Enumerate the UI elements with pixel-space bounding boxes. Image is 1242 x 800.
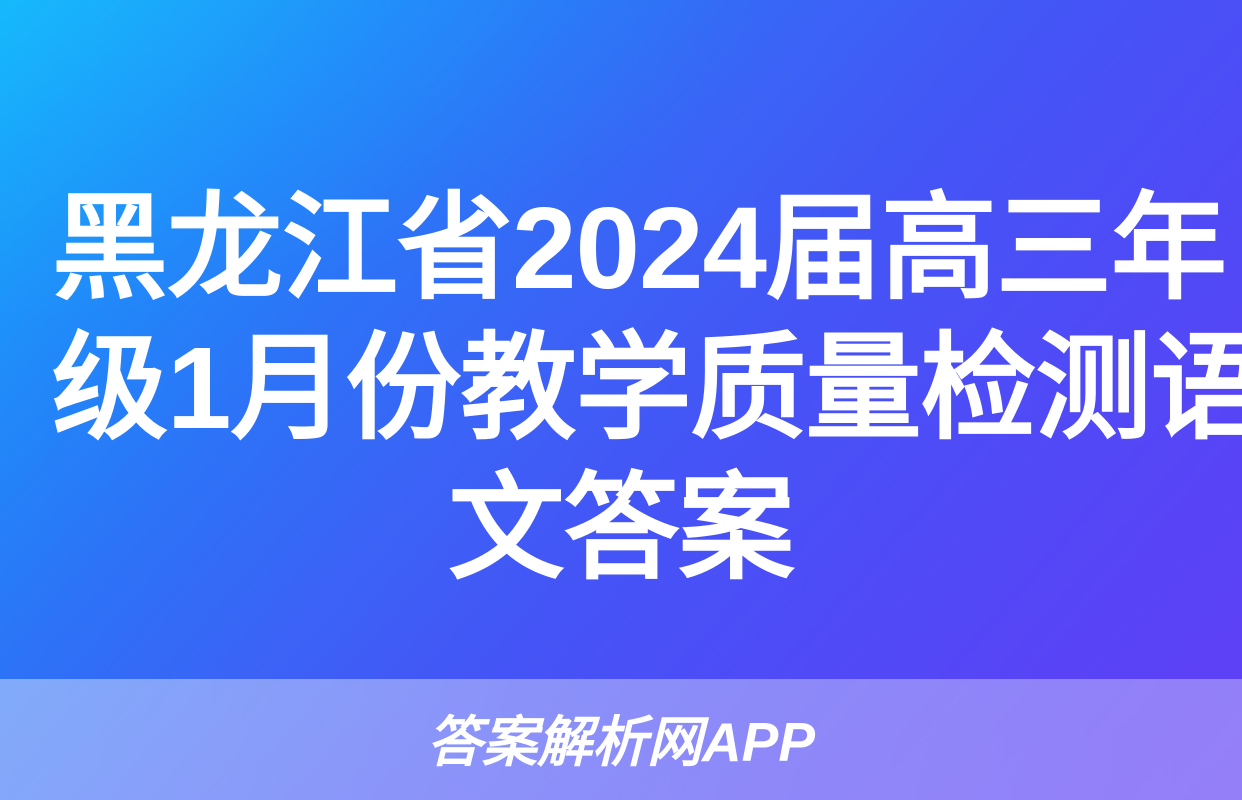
title-line-1: 黑龙江省2024届高三年 <box>52 178 1190 318</box>
page-title: 黑龙江省2024届高三年 级1月份教学质量检测语 文答案 <box>0 178 1242 598</box>
title-line-2: 级1月份教学质量检测语 <box>52 318 1190 458</box>
footer-watermark-bar: 答案解析网APP <box>0 679 1242 800</box>
title-line-3: 文答案 <box>52 458 1190 598</box>
app-watermark-label: 答案解析网APP <box>427 712 815 772</box>
cover-card: 黑龙江省2024届高三年 级1月份教学质量检测语 文答案 答案解析网APP <box>0 0 1242 800</box>
